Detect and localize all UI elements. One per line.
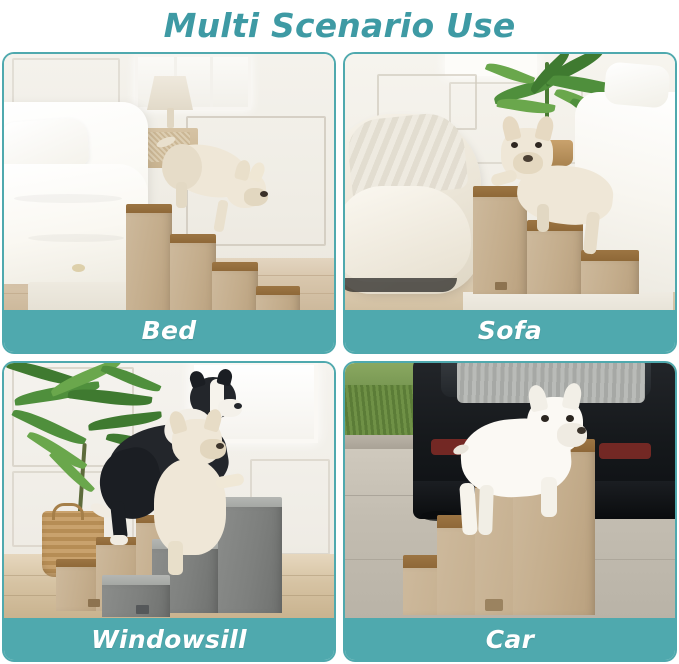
pet-stairs-step-4 xyxy=(256,286,300,310)
dog-hind-leg xyxy=(176,182,187,208)
dog-hind-leg xyxy=(541,477,557,517)
brand-tag xyxy=(485,599,503,611)
scenario-card-windowsill[interactable]: Windowsill xyxy=(2,361,336,663)
armchair-base xyxy=(345,278,457,292)
scenario-card-sofa[interactable]: Sofa xyxy=(343,52,677,354)
pet-stairs-step-2 xyxy=(170,234,216,310)
scene-photo-sofa xyxy=(345,54,675,310)
pet-stairs-step-1 xyxy=(126,204,172,310)
tail-light xyxy=(599,443,651,459)
caption-bed: Bed xyxy=(4,310,334,352)
brand-tag xyxy=(136,605,149,614)
scene-photo-bed xyxy=(4,54,334,310)
frenchie-body xyxy=(154,459,226,555)
area-rug xyxy=(463,292,673,310)
scene-photo-car xyxy=(345,363,675,619)
armchair-seat xyxy=(345,186,471,282)
dog-nose xyxy=(523,155,533,162)
basket-handle xyxy=(52,503,84,520)
dog-eye xyxy=(566,415,574,422)
table-lamp-stem xyxy=(167,108,174,128)
scene-photo-windowsill xyxy=(4,363,334,619)
pet-stairs-step-2 xyxy=(527,220,583,294)
frenchie-nose xyxy=(216,443,224,449)
dog-eye xyxy=(511,142,518,148)
collie-nose xyxy=(234,403,242,409)
scenario-card-car[interactable]: Car xyxy=(343,361,677,663)
dog-eye xyxy=(535,142,542,148)
frenchie-hind-leg xyxy=(168,541,183,575)
collie-paw xyxy=(110,535,128,545)
pet-stairs-step-3 xyxy=(581,250,639,294)
duvet-stain xyxy=(72,264,85,272)
brand-tag xyxy=(495,282,507,290)
frenchie-muzzle xyxy=(200,439,226,459)
dog-nose xyxy=(577,427,586,434)
dog-eye xyxy=(541,415,549,422)
pet-stairs-step-3 xyxy=(212,262,258,310)
brand-tag xyxy=(88,599,100,607)
caption-windowsill: Windowsill xyxy=(4,618,334,660)
table-lamp-shade xyxy=(147,76,193,110)
scenario-card-bed[interactable]: Bed xyxy=(2,52,336,354)
caption-sofa: Sofa xyxy=(345,310,675,352)
page-title: Multi Scenario Use xyxy=(0,0,679,50)
dog-front-leg xyxy=(478,484,494,534)
multi-scenario-infographic: Multi Scenario Use xyxy=(0,0,679,664)
dog-nose xyxy=(260,191,268,197)
scenario-grid: Bed xyxy=(2,52,677,662)
dog-hind-leg xyxy=(537,204,549,232)
caption-car: Car xyxy=(345,618,675,660)
pillow xyxy=(603,61,670,108)
pillow xyxy=(4,117,90,171)
